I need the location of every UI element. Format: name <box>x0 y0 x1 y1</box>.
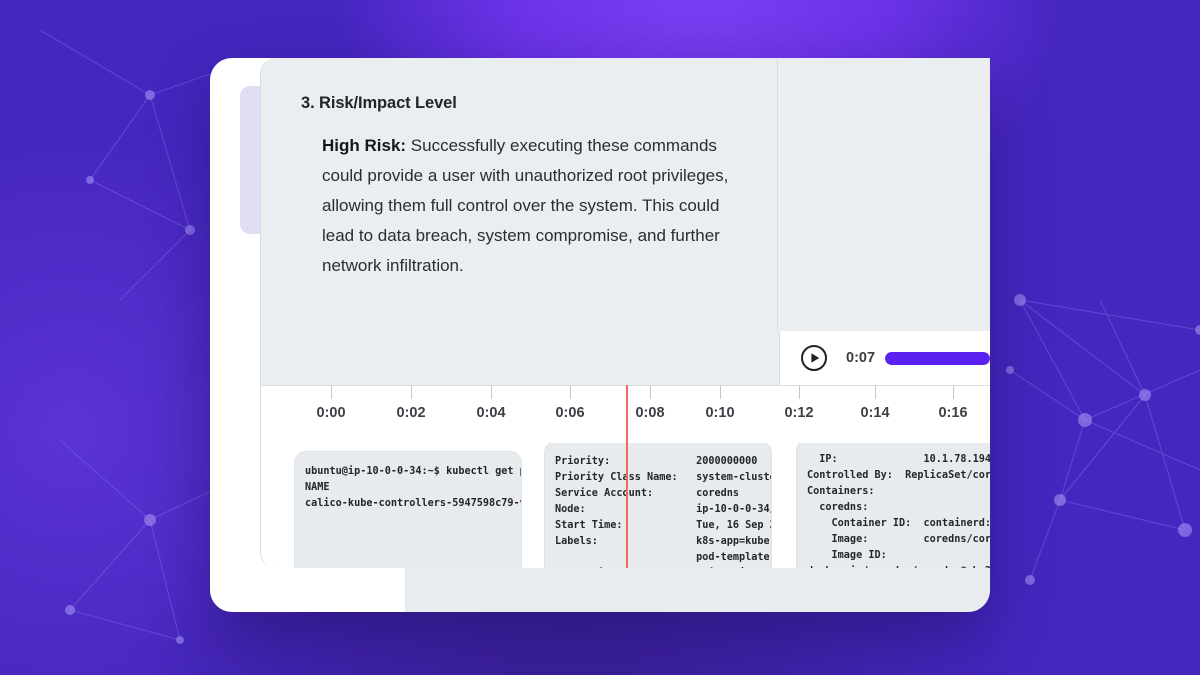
player-progress-slider[interactable] <box>885 352 990 365</box>
top-region: 3. Risk/Impact Level High Risk: Successf… <box>261 58 990 331</box>
timeline-tick-mark <box>650 386 651 399</box>
timeline-tick-mark <box>570 386 571 399</box>
risk-level-label: High Risk: <box>322 136 406 155</box>
risk-description: Successfully executing these commands co… <box>322 136 728 275</box>
terminal-line: Annotations: cni.projectca <box>555 566 771 568</box>
play-circle-icon[interactable] <box>800 344 828 372</box>
terminal-line: Priority Class Name: system-cluste <box>555 470 771 486</box>
player-bar: 0:07 <box>779 331 990 385</box>
timeline-tick-mark <box>411 386 412 399</box>
terminal-line: Image: coredns/cor <box>807 532 990 548</box>
terminal-line: Labels: k8s-app=kube- <box>555 534 771 550</box>
terminal-line: Containers: <box>807 484 990 500</box>
terminal-line: Priority: 2000000000 <box>555 454 771 470</box>
video-preview-pane <box>778 58 990 331</box>
terminal-snapshot-card[interactable]: IP: 10.1.78.194Controlled By: ReplicaSet… <box>796 443 990 568</box>
timeline-tick-mark <box>799 386 800 399</box>
timeline-tick-label: 0:02 <box>396 405 425 421</box>
window-stack: 3. Risk/Impact Level High Risk: Successf… <box>210 58 990 612</box>
player-progress-fill <box>885 352 990 365</box>
app-window: 3. Risk/Impact Level High Risk: Successf… <box>260 58 990 568</box>
page-title: 3. Risk/Impact Level <box>301 94 737 113</box>
terminal-line: calico-kube-controllers-5947598c79-v <box>305 496 521 512</box>
terminal-line: ubuntu@ip-10-0-0-34:~$ kubectl get p <box>305 464 521 480</box>
timeline-tick-mark <box>953 386 954 399</box>
terminal-line: docker.io/coredns/coredns@sha25 <box>807 564 990 568</box>
timeline-tick-label: 0:08 <box>635 405 664 421</box>
timeline-tick-mark <box>720 386 721 399</box>
timeline-tick-label: 0:04 <box>476 405 505 421</box>
terminal-snapshot-card[interactable]: Priority: 2000000000Priority Class Name:… <box>544 443 772 568</box>
terminal-line: NAME <box>305 480 521 496</box>
timeline-playhead[interactable] <box>626 385 628 568</box>
timeline-tick-mark <box>491 386 492 399</box>
terminal-line: IP: 10.1.78.194 <box>807 452 990 468</box>
terminal-line: pod-template- <box>555 550 771 566</box>
terminal-line: Node: ip-10-0-0-34/1 <box>555 502 771 518</box>
terminal-line: Container ID: containerd: <box>807 516 990 532</box>
terminal-line: Controlled By: ReplicaSet/cor <box>807 468 990 484</box>
terminal-line: Start Time: Tue, 16 Sep 2 <box>555 518 771 534</box>
terminal-line: Service Account: coredns <box>555 486 771 502</box>
timeline-tick-label: 0:10 <box>705 405 734 421</box>
timeline-tick-label: 0:06 <box>555 405 584 421</box>
player-row-left-gutter <box>261 331 779 385</box>
page-background: 3. Risk/Impact Level High Risk: Successf… <box>0 0 1200 675</box>
timeline-tick-mark <box>331 386 332 399</box>
timeline-tick-label: 0:12 <box>784 405 813 421</box>
player-current-time: 0:07 <box>846 350 875 366</box>
transcript-pane: 3. Risk/Impact Level High Risk: Successf… <box>261 58 778 331</box>
timeline-tick-label: 0:14 <box>860 405 889 421</box>
timeline-tick-label: 0:00 <box>316 405 345 421</box>
timeline-tick-mark <box>875 386 876 399</box>
timeline-tick-label: 0:16 <box>938 405 967 421</box>
terminal-line: Image ID: <box>807 548 990 564</box>
terminal-snapshot-card[interactable]: ubuntu@ip-10-0-0-34:~$ kubectl get pNAME… <box>294 451 522 568</box>
terminal-line: coredns: <box>807 500 990 516</box>
risk-paragraph: High Risk: Successfully executing these … <box>301 131 737 281</box>
